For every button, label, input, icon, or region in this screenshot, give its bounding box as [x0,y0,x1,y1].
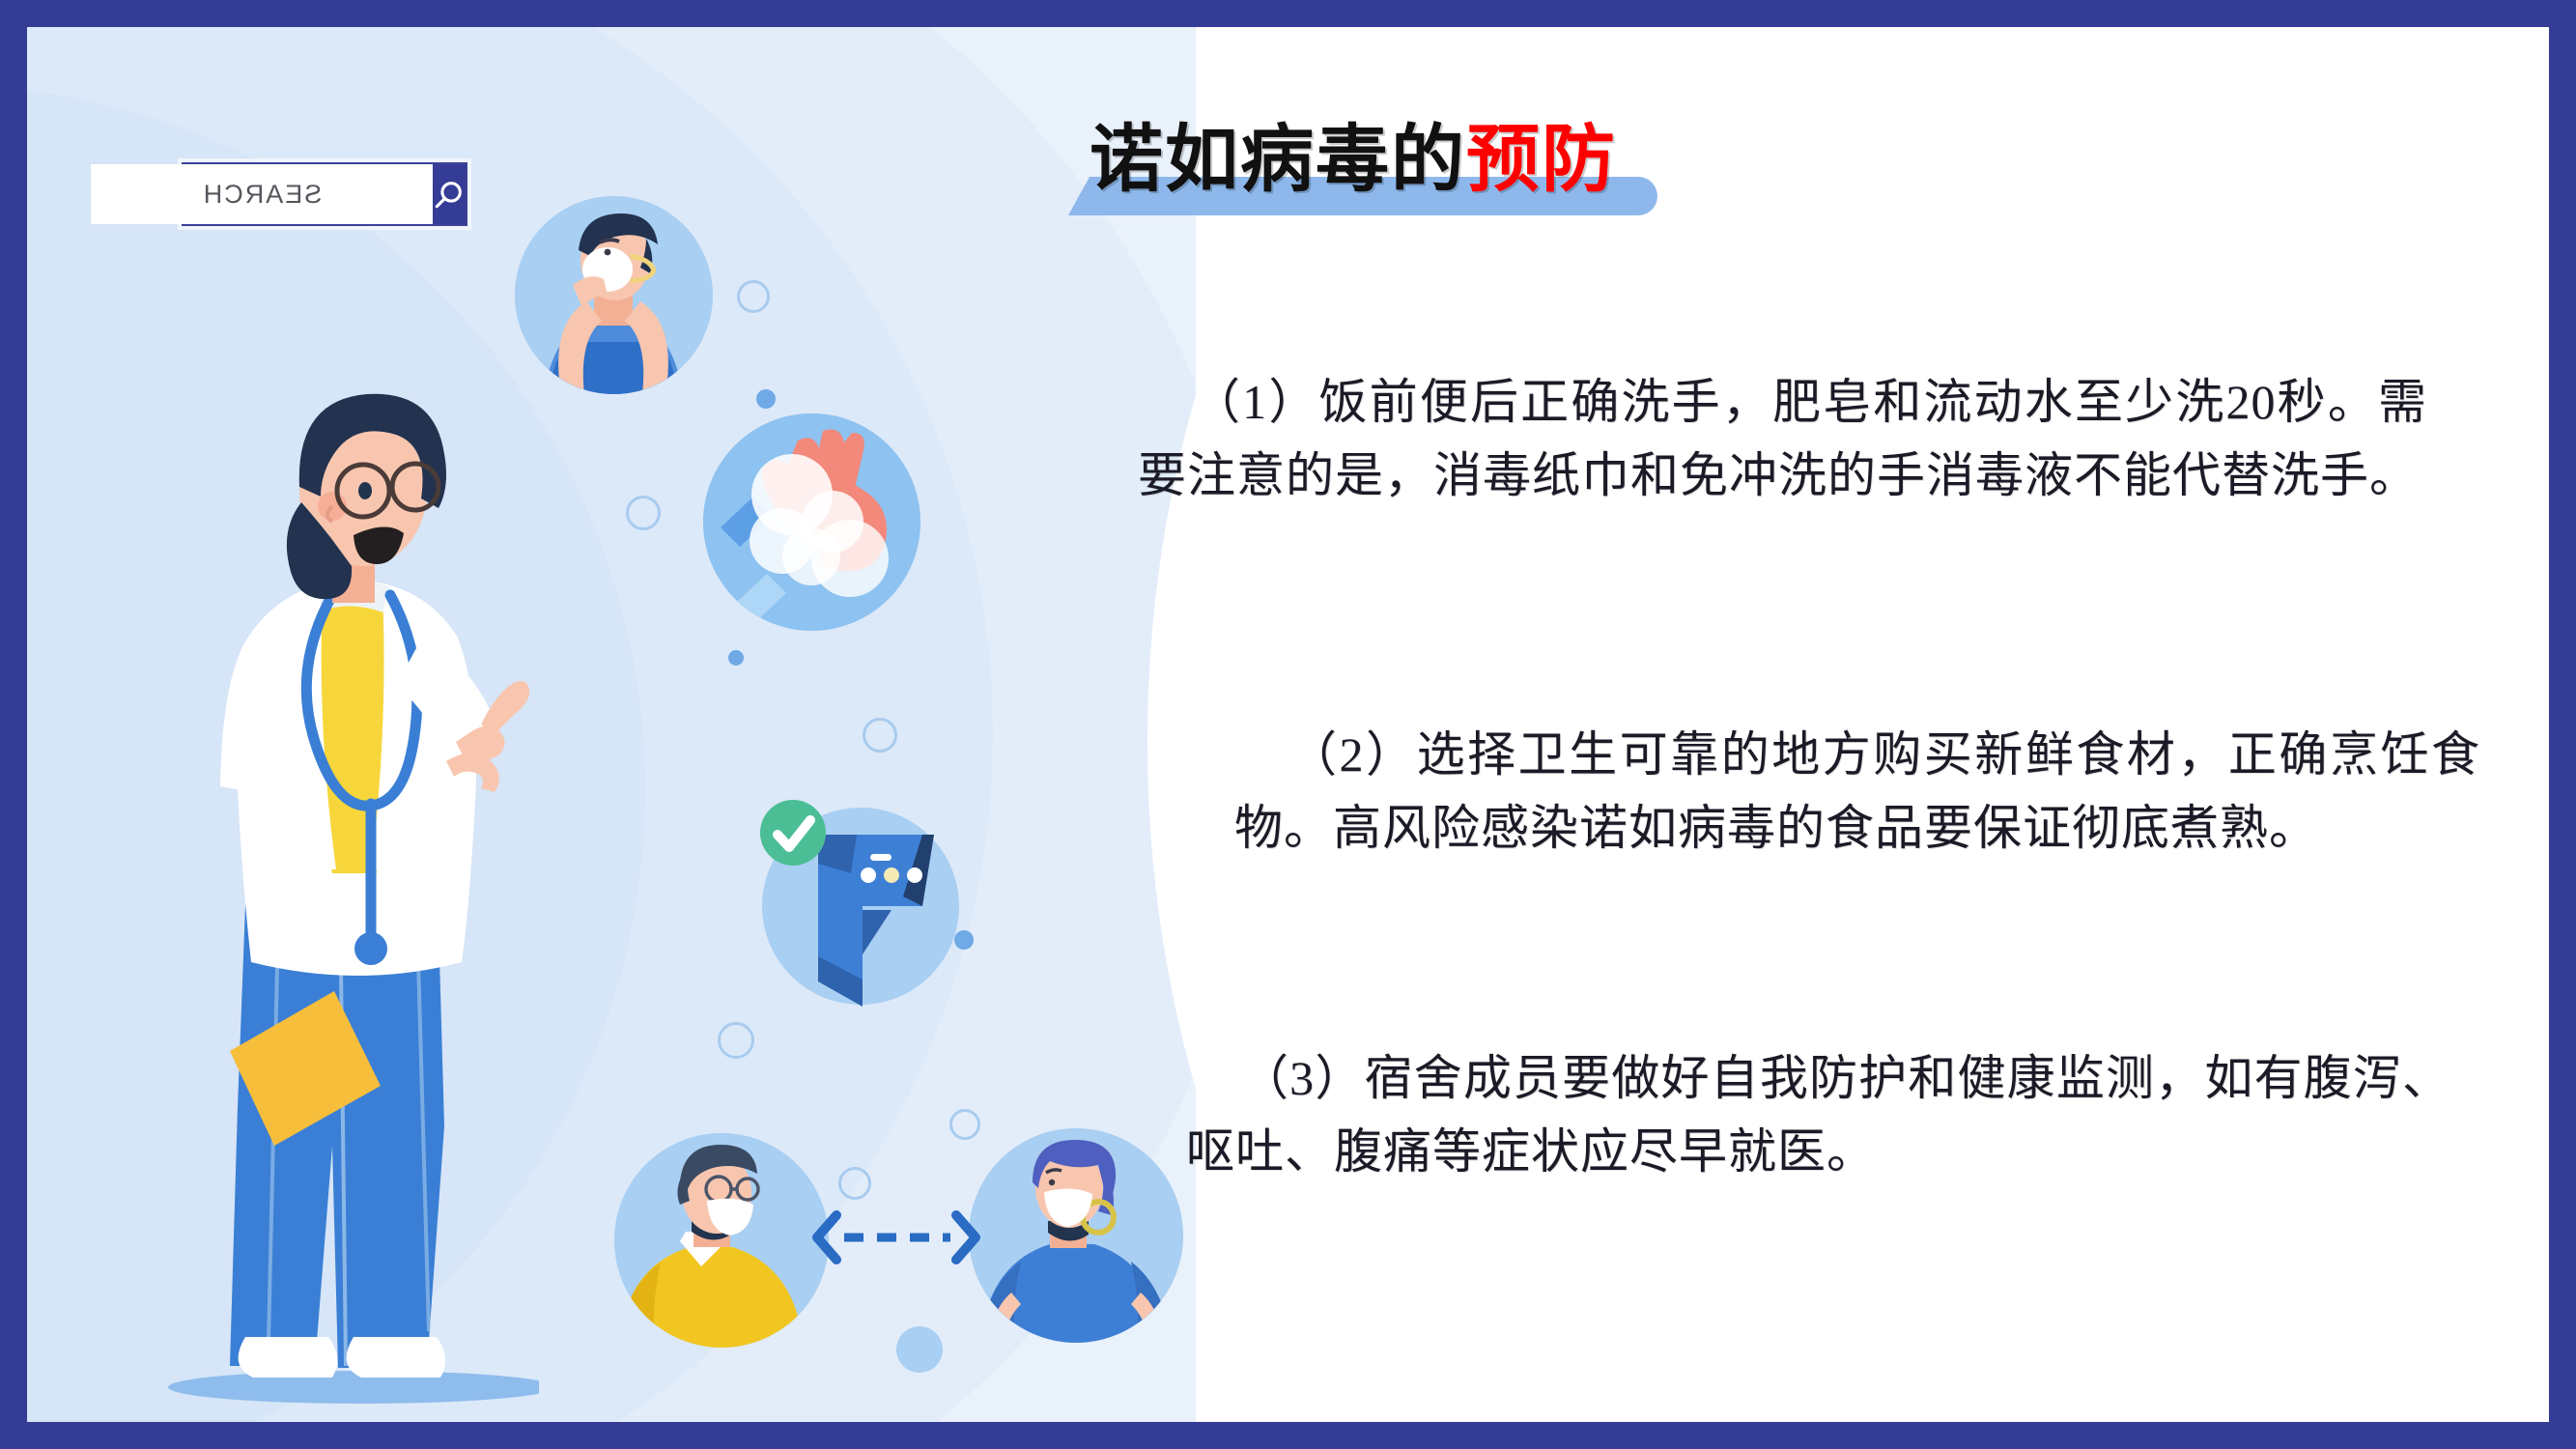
social-distance-dashed-arrow [811,1207,981,1267]
decor-dot-4 [896,1326,943,1373]
decor-dot-1 [756,389,776,409]
infrared-thermometer-icon [747,790,969,1012]
search-box[interactable] [182,162,467,226]
page-title: 诺如病毒的预防 [1051,99,1920,215]
title-main: 诺如病毒的 [1090,119,1466,201]
mask-wearing-man-bubble [515,196,713,394]
illustration-panel [27,27,1196,1422]
title-text: 诺如病毒的预防 [1090,99,1617,206]
decor-ring-5 [949,1109,980,1140]
masked-man-icon [614,1133,829,1348]
content-panel: 诺如病毒的预防 （1）饭前便后正确洗手，肥皂和流动水至少洗20秒。需要注意的是，… [1196,27,2549,1422]
prevention-paragraph-3: （3）宿舍成员要做好自我防护和健康监测，如有腹泻、呕吐、腹痛等症状应尽早就医。 [1186,1041,2451,1188]
slide-canvas: 诺如病毒的预防 （1）饭前便后正确洗手，肥皂和流动水至少洗20秒。需要注意的是，… [27,27,2549,1422]
handwashing-icon [703,413,920,631]
search-input[interactable] [91,164,433,224]
prevention-paragraph-2: （2）选择卫生可靠的地方购买新鲜食材，正确烹饪食物。高风险感染诺如病毒的食品要保… [1234,718,2480,865]
infrared-thermometer-bubble [747,790,969,1012]
handwashing-soap-bubble [703,413,920,631]
mask-wearing-man-icon [515,196,713,394]
search-icon[interactable] [433,164,466,224]
green-check-badge [760,800,826,866]
masked-woman-icon [969,1128,1183,1343]
masked-woman-blue-shirt-bubble [969,1128,1183,1343]
decor-dot-2 [728,650,744,666]
prevention-paragraph-1: （1）饭前便后正确洗手，肥皂和流动水至少洗20秒。需要注意的是，消毒纸巾和免冲洗… [1138,365,2427,512]
decor-ring-2 [626,496,661,530]
title-accent: 预防 [1466,119,1617,201]
decor-ring-3 [863,718,897,753]
masked-man-yellow-sweater-bubble [614,1133,829,1348]
decor-ring-6 [838,1167,871,1200]
decor-ring-4 [718,1022,754,1059]
decor-ring-1 [737,280,770,313]
female-doctor-illustration [133,346,539,1418]
